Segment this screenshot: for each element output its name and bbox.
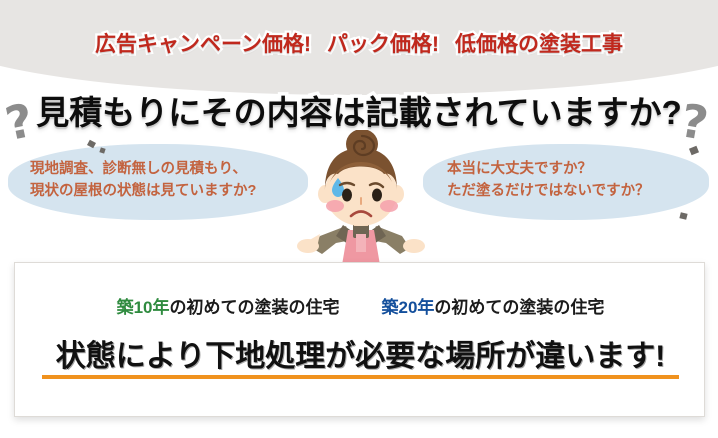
speech-bubble-right: 本当に大丈夫ですか？ ただ塗るだけではないですか？: [423, 144, 709, 220]
age-comparison-row: 築10年の初めての塗装の住宅築20年の初めての塗装の住宅: [15, 293, 706, 318]
tag-campaign-price: 広告キャンペーン価格!: [95, 28, 311, 58]
headline-container: 見積もりにその内容は記載されていますか?: [0, 86, 718, 134]
age-20-years-rest: の初めての塗装の住宅: [434, 298, 604, 317]
bubble-right-line1: 本当に大丈夫ですか？: [447, 158, 693, 180]
age-10-years-label: 築10年: [117, 298, 170, 317]
age-20-years-label: 築20年: [382, 298, 435, 317]
bubble-left-line1: 現地調査、診断無しの見積もり、: [30, 158, 292, 180]
bottom-info-panel: 築10年の初めての塗装の住宅築20年の初めての塗装の住宅 状態により下地処理が必…: [14, 262, 705, 417]
tagline-row: 広告キャンペーン価格!パック価格!低価格の塗装工事: [0, 28, 718, 58]
age-10-years-rest: の初めての塗装の住宅: [170, 298, 340, 317]
marketing-banner: 広告キャンペーン価格!パック価格!低価格の塗装工事 ? ? 見積もりにその内容は…: [0, 0, 718, 438]
speech-bubble-left: 現地調査、診断無しの見積もり、 現状の屋根の状態は見ていますか?: [8, 144, 308, 220]
bubble-left-line2: 現状の屋根の状態は見ていますか?: [30, 180, 292, 202]
bubble-right-line2: ただ塗るだけではないですか？: [447, 180, 693, 202]
worried-woman-illustration: [296, 130, 426, 265]
panel-main-message: 状態により下地処理が必要な場所が違います!: [15, 331, 706, 375]
main-headline: 見積もりにその内容は記載されていますか?: [36, 86, 682, 134]
tag-pack-price: パック価格!: [327, 28, 439, 58]
tag-low-price-painting: 低価格の塗装工事: [455, 28, 623, 58]
bubble-tail-dot: [679, 212, 687, 220]
orange-underline: [42, 375, 679, 379]
